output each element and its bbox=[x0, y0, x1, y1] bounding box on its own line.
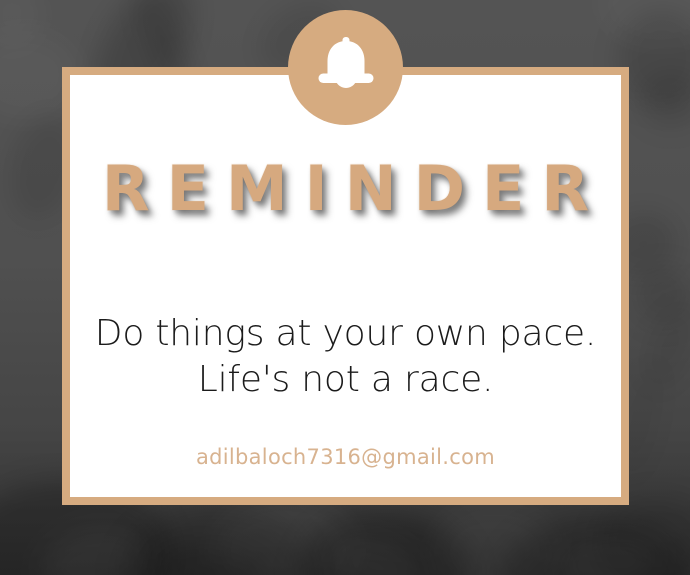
page-title: REMINDER bbox=[70, 158, 621, 220]
bell-icon bbox=[316, 37, 376, 99]
poster-card-frame: REMINDER Do things at your own pace. Lif… bbox=[62, 67, 629, 505]
poster-card-inner: REMINDER Do things at your own pace. Lif… bbox=[70, 75, 621, 497]
reminder-poster: REMINDER Do things at your own pace. Lif… bbox=[0, 0, 690, 575]
reminder-message-line-1: Do things at your own pace. bbox=[70, 311, 621, 357]
reminder-message-line-2: Life's not a race. bbox=[70, 357, 621, 403]
bell-badge bbox=[288, 10, 403, 125]
contact-email: adilbaloch7316@gmail.com bbox=[70, 445, 621, 469]
reminder-message: Do things at your own pace. Life's not a… bbox=[70, 311, 621, 403]
